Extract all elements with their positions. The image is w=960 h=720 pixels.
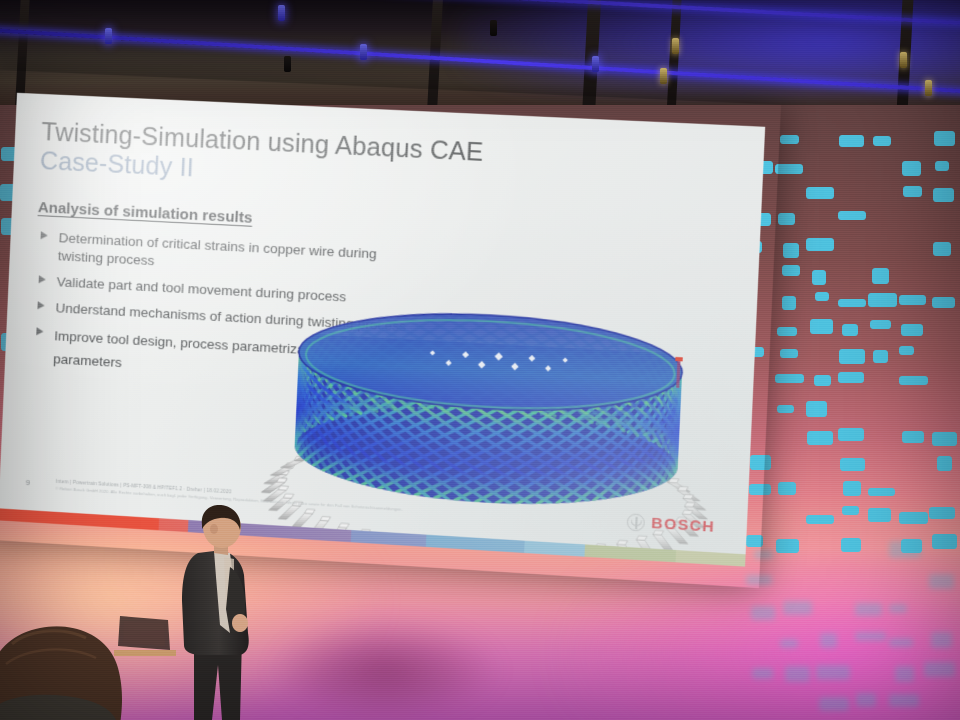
slide-subheading: Analysis of simulation results: [38, 199, 253, 227]
wall-light-slot: [806, 401, 827, 417]
wall-light-slot: [780, 135, 798, 144]
wall-light-slot: [889, 604, 907, 613]
twisting-tool-block: [461, 550, 471, 557]
ceiling-spotlight: [660, 68, 667, 84]
presenter-hand: [232, 614, 248, 632]
wall-light-slot: [932, 297, 955, 307]
wall-light-slot: [889, 694, 919, 707]
wall-light-slot: [775, 164, 803, 175]
bullet-text: Determination of critical strains in cop…: [58, 230, 378, 268]
wall-light-slot: [815, 292, 829, 300]
wall-light-slot: [780, 639, 798, 648]
twisting-tool-block-top: [339, 523, 349, 528]
wall-light-slot: [902, 161, 920, 176]
wall-light-slot: [899, 295, 926, 306]
bullet-triangle-icon: [36, 327, 43, 335]
wall-light-slot: [780, 349, 798, 358]
wall-light-slot: [782, 296, 797, 310]
wall-light-slot: [840, 458, 865, 471]
wall-light-slot: [838, 211, 865, 219]
wall-light-slot: [816, 665, 850, 680]
wall-light-slot: [937, 456, 952, 471]
wall-light-slot: [929, 574, 954, 590]
twisting-tool-block-top: [278, 486, 288, 491]
wall-light-slot: [872, 268, 889, 283]
twisting-tool-block-top: [617, 540, 628, 545]
ceiling-spotlight: [490, 20, 497, 36]
bullet-triangle-icon: [39, 275, 46, 283]
wall-light-slot: [933, 242, 950, 256]
twisting-tool-block: [431, 547, 443, 557]
wall-light-slot: [820, 633, 837, 648]
wall-light-slot: [838, 299, 866, 307]
wall-light-slot: [868, 293, 897, 307]
ceiling-spotlight: [360, 44, 367, 60]
wall-light-slot: [777, 405, 794, 413]
twisting-tool-block-top: [636, 536, 647, 541]
ceiling-spotlight: [925, 80, 932, 96]
wall-slot-pattern-lower: [744, 540, 960, 720]
wall-light-slot: [856, 693, 876, 706]
wall-light-slot: [929, 507, 954, 519]
wall-light-slot: [931, 632, 952, 648]
twisting-tool-block: [489, 552, 499, 557]
bullet-triangle-icon: [37, 301, 44, 309]
twisting-tool-block-top: [682, 510, 693, 515]
wall-light-slot: [778, 482, 796, 495]
wall-light-slot: [838, 372, 864, 383]
wall-light-slot: [899, 512, 928, 524]
slide-page-number: 9: [25, 477, 55, 489]
twisting-tool-block-top: [320, 516, 330, 521]
wall-light-slot: [775, 374, 803, 383]
wall-light-slot: [819, 697, 850, 711]
wall-light-slot: [901, 324, 923, 336]
wall-light-slot: [751, 606, 774, 620]
wall-light-slot: [810, 319, 834, 334]
wall-light-slot: [782, 265, 800, 276]
wall-light-slot: [924, 662, 955, 678]
wall-light-slot: [855, 632, 886, 641]
wall-light-slot: [814, 375, 832, 386]
presentation-slide: Twisting-Simulation using Abaqus CAE Cas…: [0, 93, 765, 567]
wall-light-slot: [889, 541, 921, 558]
wall-light-slot: [902, 431, 924, 443]
projection-screen: Twisting-Simulation using Abaqus CAE Cas…: [0, 70, 781, 588]
wall-light-slot: [785, 666, 810, 682]
wall-light-slot: [873, 350, 887, 364]
ceiling-spotlight: [278, 5, 285, 21]
wall-light-slot: [843, 481, 860, 496]
colorbar-segment-light-blue: [524, 541, 585, 557]
wall-light-slot: [868, 488, 895, 496]
wall-light-slot: [868, 508, 891, 522]
wall-light-slot: [783, 601, 812, 615]
ceiling-spotlight: [900, 52, 907, 68]
wall-light-slot: [934, 131, 955, 146]
wall-light-slot: [870, 320, 891, 329]
wall-light-slot: [903, 186, 922, 198]
wall-light-slot: [777, 327, 797, 336]
wall-light-slot: [807, 431, 833, 445]
conference-photo-scene: Twisting-Simulation using Abaqus CAE Cas…: [0, 0, 960, 720]
wall-light-slot: [806, 515, 834, 524]
wall-light-slot: [842, 506, 859, 514]
wall-light-slot: [935, 161, 950, 171]
wall-light-slot: [839, 135, 865, 147]
wall-light-slot: [899, 376, 928, 385]
wall-light-slot: [873, 136, 891, 147]
wall-light-slot: [806, 187, 834, 199]
bosch-anchor-icon: [627, 513, 646, 531]
wall-light-slot: [806, 238, 834, 252]
presenter: [168, 505, 278, 720]
wall-light-slot: [752, 668, 774, 679]
bullet-triangle-icon: [41, 231, 48, 239]
wall-light-slot: [889, 638, 913, 647]
ceiling-spotlight: [105, 28, 112, 44]
wall-light-slot: [842, 324, 858, 336]
stage-floor-shadow: [270, 620, 500, 720]
audience-member-foreground: [0, 560, 167, 720]
wall-light-slot: [778, 213, 796, 225]
wall-light-slot: [812, 270, 826, 285]
wall-light-slot: [932, 432, 957, 447]
wall-light-slot: [783, 243, 799, 258]
wall-light-slot: [855, 603, 883, 615]
ceiling-spotlight: [672, 38, 679, 54]
wall-light-slot: [838, 428, 864, 441]
wall-light-slot: [839, 349, 866, 364]
ceiling-spotlight: [284, 56, 291, 72]
wall-light-slot: [933, 188, 954, 202]
wall-light-slot: [895, 666, 914, 682]
ceiling-spotlight: [592, 56, 599, 72]
wall-light-slot: [899, 346, 913, 355]
